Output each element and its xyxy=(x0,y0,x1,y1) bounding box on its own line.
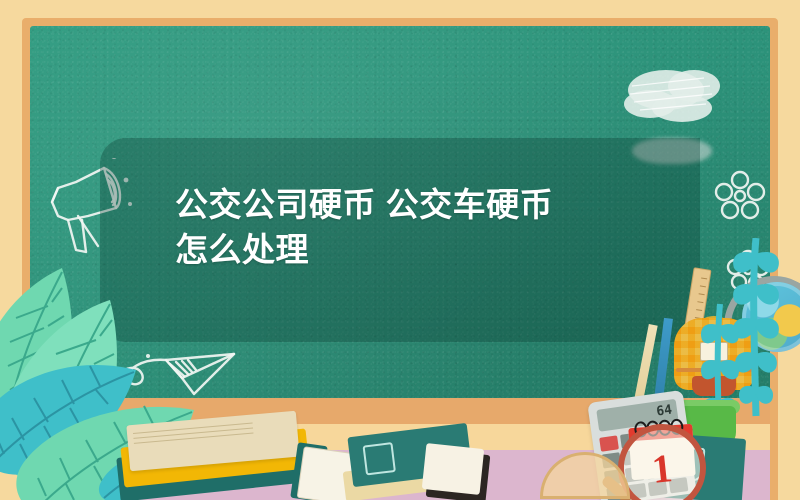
book-open-pages xyxy=(422,443,484,495)
page-title-line-1: 公交公司硬币 公交车硬币 xyxy=(175,182,655,227)
page-title-line-2: 怎么处理 xyxy=(175,227,655,272)
cover-image: 公交公司硬币 公交车硬币 怎么处理 xyxy=(0,0,800,500)
calendar-day-number: 1 xyxy=(620,426,704,500)
page-title: 公交公司硬币 公交车硬币 怎么处理 xyxy=(175,182,655,272)
